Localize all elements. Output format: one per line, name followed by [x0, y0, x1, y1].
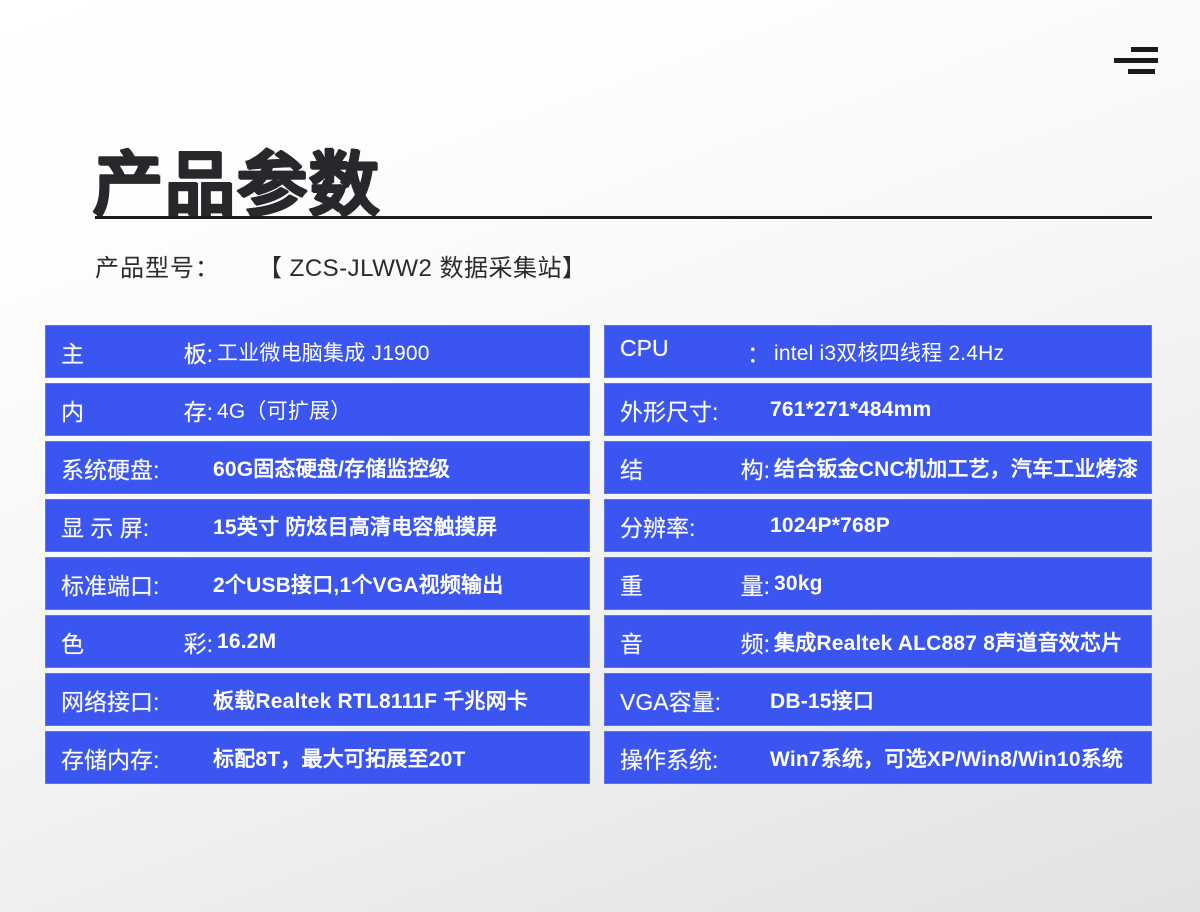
spec-row: 结构:结合钣金CNC机加工艺，汽车工业烤漆	[604, 441, 1152, 494]
spec-row-label: CPU：	[604, 335, 774, 369]
spec-label-start: 主	[61, 335, 84, 369]
spec-row-value: 集成Realtek ALC887 8声道音效芯片	[774, 627, 1122, 657]
spec-label-end: 量:	[741, 567, 770, 601]
spec-row-label: 外形尺寸:	[604, 393, 770, 427]
spec-row: 存储内存:标配8T，最大可拓展至20T	[45, 731, 590, 784]
spec-label-end: 构:	[741, 451, 770, 485]
spec-row: 色彩:16.2M	[45, 615, 590, 668]
spec-row-label: 音频:	[604, 625, 774, 659]
spec-table: 主板:工业微电脑集成 J1900内存:4G（可扩展）系统硬盘:60G固态硬盘/存…	[45, 325, 1152, 784]
spec-row-label: 色彩:	[45, 625, 217, 659]
spec-row-value: 15英寸 防炫目高清电容触摸屏	[213, 511, 497, 541]
spec-label-end: 板:	[184, 335, 213, 369]
spec-row-value: 1024P*768P	[770, 514, 890, 538]
spec-label-end: ：	[747, 335, 770, 369]
spec-row-value: 4G（可扩展）	[217, 395, 351, 425]
title-divider	[95, 216, 1152, 219]
spec-row: 外形尺寸:761*271*484mm	[604, 383, 1152, 436]
spec-row-label: 存储内存:	[45, 741, 213, 775]
spec-row: 标准端口:2个USB接口,1个VGA视频输出	[45, 557, 590, 610]
spec-row: 系统硬盘:60G固态硬盘/存储监控级	[45, 441, 590, 494]
spec-label-end: 存:	[184, 393, 213, 427]
spec-column-right: CPU：intel i3双核四线程 2.4Hz外形尺寸:761*271*484m…	[604, 325, 1152, 784]
spec-row: 内存:4G（可扩展）	[45, 383, 590, 436]
spec-row-label: 显 示 屏:	[45, 509, 213, 543]
spec-row-value: 761*271*484mm	[770, 398, 931, 422]
menu-bar-top	[1131, 47, 1158, 52]
spec-label-start: 色	[61, 625, 84, 659]
spec-row: 显 示 屏:15英寸 防炫目高清电容触摸屏	[45, 499, 590, 552]
spec-row-value: 30kg	[774, 572, 823, 596]
spec-label-start: 音	[620, 625, 643, 659]
spec-label-start: 结	[620, 451, 643, 485]
spec-row-value: 60G固态硬盘/存储监控级	[213, 453, 450, 483]
menu-bar-bottom	[1128, 69, 1155, 74]
spec-row-label: 重量:	[604, 567, 774, 601]
spec-row-label: 标准端口:	[45, 567, 213, 601]
spec-row-value: 工业微电脑集成 J1900	[217, 337, 430, 367]
spec-row: 主板:工业微电脑集成 J1900	[45, 325, 590, 378]
spec-row-value: 2个USB接口,1个VGA视频输出	[213, 569, 503, 599]
product-model-line: 产品型号： 【 ZCS-JLWW2 数据采集站】	[95, 248, 587, 283]
spec-row-label: 结构:	[604, 451, 774, 485]
menu-bar-middle	[1114, 58, 1158, 63]
spec-row: 音频:集成Realtek ALC887 8声道音效芯片	[604, 615, 1152, 668]
spec-label-end: 频:	[741, 625, 770, 659]
spec-row: 重量:30kg	[604, 557, 1152, 610]
spec-row-value: 16.2M	[217, 630, 276, 654]
spec-row-value: 结合钣金CNC机加工艺，汽车工业烤漆	[774, 453, 1138, 483]
spec-row-label: 操作系统:	[604, 741, 770, 775]
spec-row-label: 系统硬盘:	[45, 451, 213, 485]
spec-column-left: 主板:工业微电脑集成 J1900内存:4G（可扩展）系统硬盘:60G固态硬盘/存…	[45, 325, 590, 784]
spec-row-label: 内存:	[45, 393, 217, 427]
spec-label-start: CPU	[620, 335, 669, 369]
hamburger-menu-icon[interactable]	[1114, 45, 1158, 79]
page-title: 产品参数	[93, 145, 381, 225]
spec-label-start: 内	[61, 393, 84, 427]
spec-row-label: 主板:	[45, 335, 217, 369]
spec-row: 网络接口:板载Realtek RTL8111F 千兆网卡	[45, 673, 590, 726]
spec-label-end: 彩:	[184, 625, 213, 659]
spec-row: 操作系统:Win7系统，可选XP/Win8/Win10系统	[604, 731, 1152, 784]
spec-row-label: 网络接口:	[45, 683, 213, 717]
spec-row-value: intel i3双核四线程 2.4Hz	[774, 337, 1004, 367]
spec-row: CPU：intel i3双核四线程 2.4Hz	[604, 325, 1152, 378]
spec-row-value: Win7系统，可选XP/Win8/Win10系统	[770, 743, 1123, 773]
spec-row-label: 分辨率:	[604, 509, 770, 543]
product-model-label: 产品型号：	[95, 248, 220, 283]
product-model-value: 【 ZCS-JLWW2 数据采集站】	[258, 248, 587, 283]
spec-row: 分辨率:1024P*768P	[604, 499, 1152, 552]
spec-row-value: 标配8T，最大可拓展至20T	[213, 743, 466, 773]
spec-label-start: 重	[620, 567, 643, 601]
spec-row-value: DB-15接口	[770, 685, 874, 715]
spec-row: VGA容量:DB-15接口	[604, 673, 1152, 726]
spec-row-label: VGA容量:	[604, 683, 770, 717]
spec-row-value: 板载Realtek RTL8111F 千兆网卡	[213, 685, 528, 715]
